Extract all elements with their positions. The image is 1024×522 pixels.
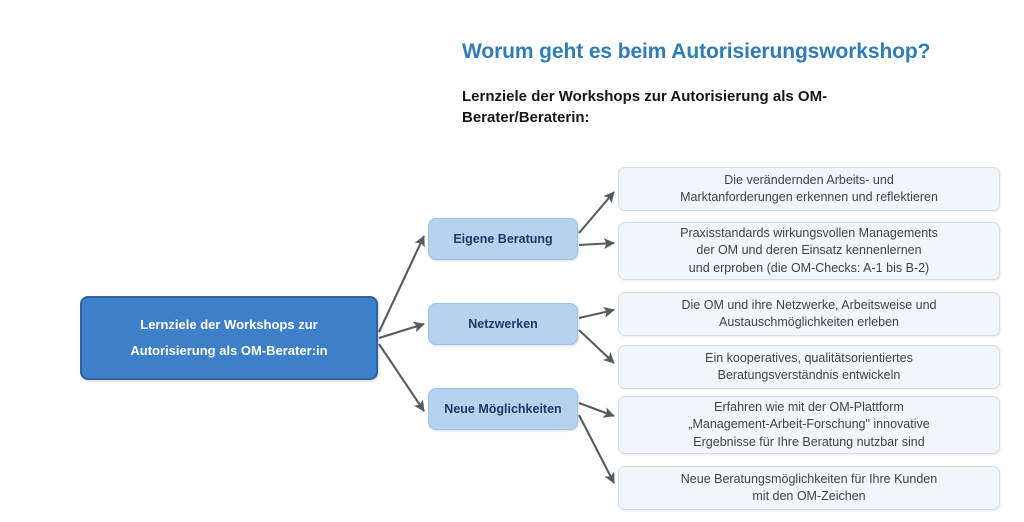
leaf-line: „Management-Arbeit-Forschung" innovative — [688, 416, 929, 434]
leaf-line: Marktanforderungen erkennen und reflekti… — [680, 189, 938, 207]
arrow-root-to-neue-moeglichkeiten — [379, 344, 424, 411]
root-node-line-1: Lernziele der Workshops zur — [130, 312, 327, 338]
leaf-line: mit den OM-Zeichen — [681, 488, 937, 506]
branch-node-netzwerken[interactable]: Netzwerken — [428, 303, 578, 345]
leaf-line: Die verändernden Arbeits- und — [680, 172, 938, 190]
leaf-node-text: Erfahren wie mit der OM-Plattform „Manag… — [678, 399, 939, 452]
branch-label: Netzwerken — [468, 317, 537, 331]
root-node-line-2: Autorisierung als OM-Berater:in — [130, 338, 327, 364]
arrow-neue-to-leaf-6 — [579, 415, 614, 483]
arrow-neue-to-leaf-5 — [579, 403, 614, 416]
arrow-root-to-netzwerken — [379, 324, 424, 338]
arrow-netzwerken-to-leaf-3 — [579, 310, 614, 318]
leaf-line: und erproben (die OM-Checks: A-1 bis B-2… — [680, 260, 938, 278]
root-node[interactable]: Lernziele der Workshops zur Autorisierun… — [80, 296, 378, 380]
leaf-node[interactable]: Neue Beratungsmöglichkeiten für Ihre Kun… — [618, 466, 1000, 510]
leaf-node[interactable]: Ein kooperatives, qualitätsorientiertes … — [618, 345, 1000, 389]
leaf-node-text: Die verändernden Arbeits- und Marktanfor… — [670, 172, 948, 207]
arrow-netzwerken-to-leaf-4 — [579, 330, 614, 363]
leaf-node-text: Neue Beratungsmöglichkeiten für Ihre Kun… — [671, 471, 947, 506]
arrow-eigene-to-leaf-2 — [579, 243, 614, 245]
leaf-node-text: Praxisstandards wirkungsvollen Managemen… — [670, 225, 948, 278]
leaf-node[interactable]: Die OM und ihre Netzwerke, Arbeitsweise … — [618, 292, 1000, 336]
leaf-line: Ergebnisse für Ihre Beratung nutzbar sin… — [688, 434, 929, 452]
branch-node-eigene-beratung[interactable]: Eigene Beratung — [428, 218, 578, 260]
branch-label: Eigene Beratung — [453, 232, 552, 246]
branch-label: Neue Möglichkeiten — [444, 402, 561, 416]
leaf-line: Ein kooperatives, qualitätsorientiertes — [705, 350, 913, 368]
leaf-line: Neue Beratungsmöglichkeiten für Ihre Kun… — [681, 471, 937, 489]
leaf-node[interactable]: Erfahren wie mit der OM-Plattform „Manag… — [618, 396, 1000, 454]
leaf-node[interactable]: Praxisstandards wirkungsvollen Managemen… — [618, 222, 1000, 280]
leaf-node-text: Die OM und ihre Netzwerke, Arbeitsweise … — [672, 297, 947, 332]
diagram-canvas: Worum geht es beim Autorisierungsworksho… — [0, 0, 1024, 522]
branch-node-neue-moeglichkeiten[interactable]: Neue Möglichkeiten — [428, 388, 578, 430]
root-node-label: Lernziele der Workshops zur Autorisierun… — [118, 312, 339, 364]
leaf-line: Beratungsverständnis entwickeln — [705, 367, 913, 385]
leaf-line: Austauschmöglichkeiten erleben — [682, 314, 937, 332]
leaf-line: der OM und deren Einsatz kennenlernen — [680, 242, 938, 260]
arrow-root-to-eigene-beratung — [379, 236, 424, 332]
leaf-node-text: Ein kooperatives, qualitätsorientiertes … — [695, 350, 923, 385]
leaf-line: Erfahren wie mit der OM-Plattform — [688, 399, 929, 417]
leaf-line: Praxisstandards wirkungsvollen Managemen… — [680, 225, 938, 243]
leaf-line: Die OM und ihre Netzwerke, Arbeitsweise … — [682, 297, 937, 315]
leaf-node[interactable]: Die verändernden Arbeits- und Marktanfor… — [618, 167, 1000, 211]
arrow-eigene-to-leaf-1 — [579, 192, 614, 233]
